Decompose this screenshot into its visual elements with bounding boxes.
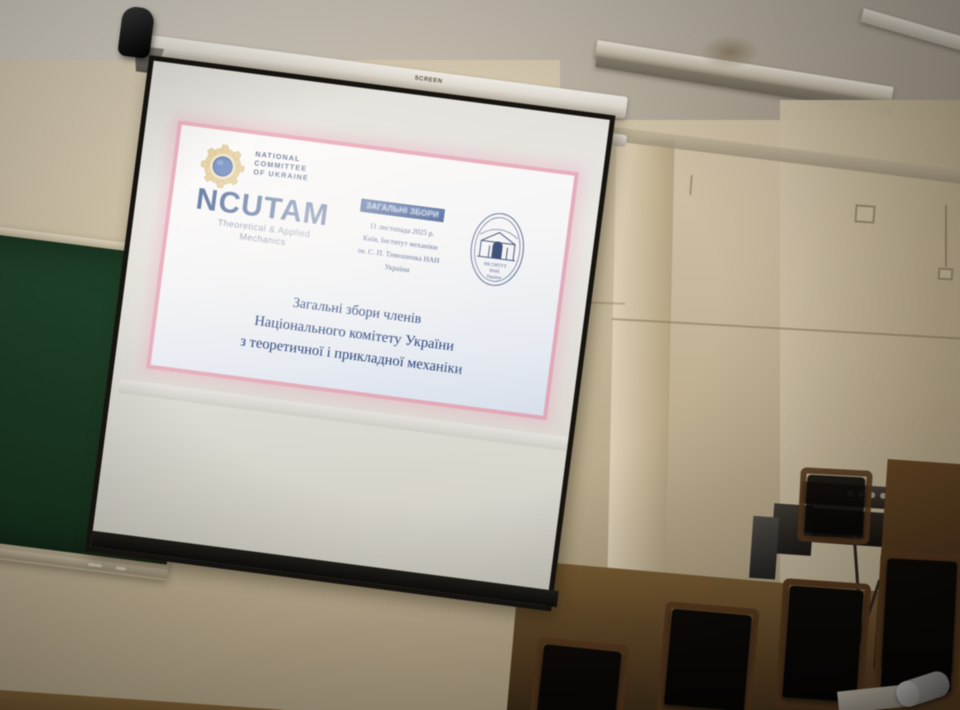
chair-seat-back	[536, 644, 622, 710]
chair-seat-back	[664, 609, 752, 710]
wall-wire	[945, 205, 947, 267]
slide-event-meta: 11 листопада 2025 р. Київ, Інститут меха…	[333, 216, 467, 284]
wall-pillar	[607, 140, 674, 580]
chair-seat-back	[805, 475, 866, 536]
ncutam-org-words: NATIONAL COMMITTEE OF UKRAINE	[253, 149, 347, 186]
ceiling-stain	[700, 35, 760, 69]
equipment-tower	[749, 516, 779, 580]
slide-title: Загальні збори членів Національного комі…	[163, 277, 544, 391]
projector-pink-fringe: NATIONAL COMMITTEE OF UKRAINE NCUTAM The…	[146, 120, 579, 420]
wall-junction-box	[854, 204, 875, 223]
chair-seat-back	[881, 558, 958, 691]
gear-icon	[198, 142, 247, 191]
chair[interactable]	[782, 586, 864, 703]
wall-speaker-icon	[117, 5, 155, 59]
slide-banner-text: ЗАГАЛЬНІ ЗБОРИ	[366, 201, 440, 219]
chalk-piece[interactable]	[116, 566, 126, 570]
projection-screen-assembly[interactable]: SCREEN	[58, 18, 623, 618]
projected-slide: NATIONAL COMMITTEE OF UKRAINE NCUTAM The…	[151, 125, 575, 416]
chair[interactable]	[881, 558, 958, 691]
chair-seat-back	[782, 586, 864, 703]
chair[interactable]	[664, 609, 752, 710]
ncutam-logo: NATIONAL COMMITTEE OF UKRAINE NCUTAM The…	[191, 142, 352, 256]
chair-back-row[interactable]	[805, 475, 866, 536]
screen-border: NATIONAL COMMITTEE OF UKRAINE NCUTAM The…	[85, 55, 615, 611]
slide-banner: ЗАГАЛЬНІ ЗБОРИ	[360, 199, 445, 223]
lecture-hall-photo: SCREEN	[0, 0, 960, 710]
screen-surface: NATIONAL COMMITTEE OF UKRAINE NCUTAM The…	[91, 61, 610, 606]
wall-socket[interactable]	[938, 267, 954, 280]
chair[interactable]	[536, 644, 622, 710]
svg-text:України: України	[486, 273, 502, 280]
chalk-piece[interactable]	[88, 563, 102, 568]
institute-seal-icon: ІНСТИТУТ НАН України	[463, 207, 531, 292]
